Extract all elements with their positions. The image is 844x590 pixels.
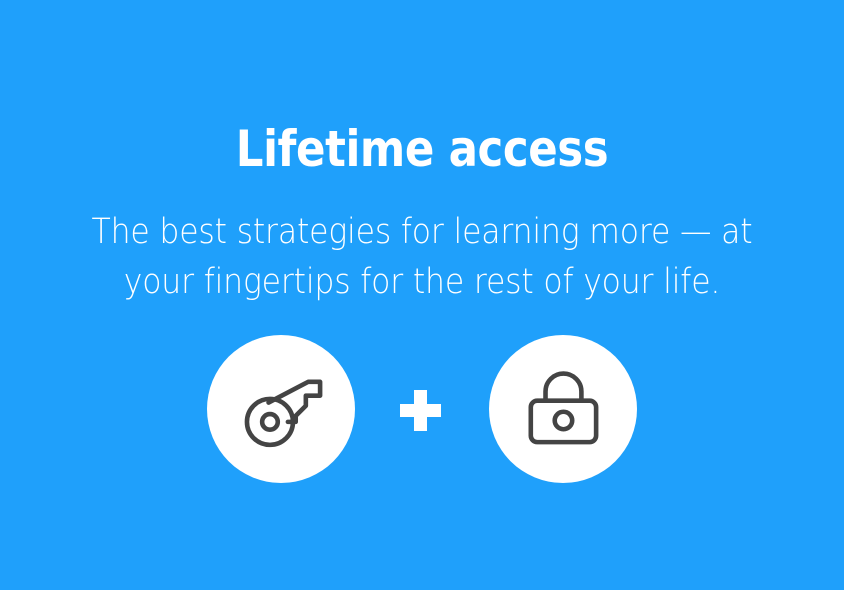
subtitle: The best strategies for learning more — … [42, 207, 802, 307]
subtitle-line-1: The best strategies for learning more — … [42, 207, 802, 257]
key-icon [235, 363, 327, 455]
subtitle-line-2: your fingertips for the rest of your lif… [42, 257, 802, 307]
lock-icon-badge [489, 335, 637, 483]
icon-row [0, 335, 844, 485]
lifetime-access-slide: Lifetime access The best strategies for … [0, 0, 844, 590]
page-title: Lifetime access [55, 120, 789, 178]
key-icon-badge [207, 335, 355, 483]
plus-icon [400, 390, 441, 431]
lock-icon [517, 363, 609, 455]
